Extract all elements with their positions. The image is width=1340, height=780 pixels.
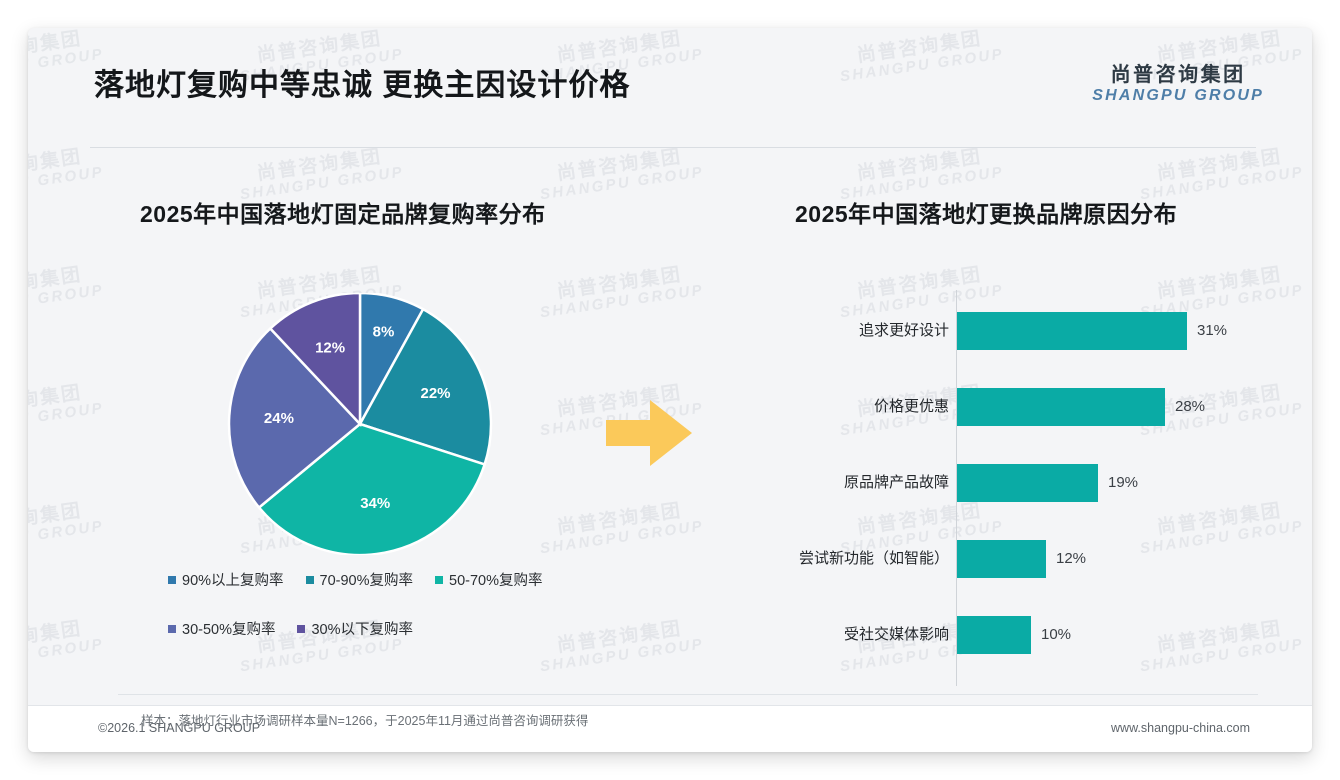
left-chart-title: 2025年中国落地灯固定品牌复购率分布 xyxy=(140,195,546,229)
bar-row: 价格更优惠28% xyxy=(796,388,1266,426)
legend-item[interactable]: 30%以下复购率 xyxy=(297,618,413,639)
bar-row: 原品牌产品故障19% xyxy=(796,464,1266,502)
legend-swatch-icon xyxy=(306,576,314,584)
slide-header: 落地灯复购中等忠诚 更换主因设计价格 尚普咨询集团 SHANGPU GROUP xyxy=(28,28,1312,118)
pie-slice-label: 8% xyxy=(373,324,395,341)
slide-card: 尚普咨询集团SHANGPU GROUP尚普咨询集团SHANGPU GROUP尚普… xyxy=(28,28,1312,752)
arrow-svg xyxy=(606,394,692,472)
legend-swatch-icon xyxy=(297,625,305,633)
logo-text-cn: 尚普咨询集团 xyxy=(1092,64,1264,87)
legend-item[interactable]: 90%以上复购率 xyxy=(168,569,284,590)
page-title: 落地灯复购中等忠诚 更换主因设计价格 xyxy=(94,60,630,104)
pie-slice-label: 12% xyxy=(315,339,345,356)
bar-row: 追求更好设计31% xyxy=(796,312,1266,350)
watermark-tile: 尚普咨询集团SHANGPU GROUP xyxy=(536,263,705,321)
bar-category-label: 追求更好设计 xyxy=(859,312,949,350)
legend-label: 70-90%复购率 xyxy=(320,569,413,590)
footnote-divider xyxy=(118,694,1258,695)
bar-category-label: 尝试新功能（如智能） xyxy=(799,540,949,578)
pie-slice-label: 22% xyxy=(421,385,451,402)
bar-fill[interactable] xyxy=(957,540,1046,578)
bar-category-label: 原品牌产品故障 xyxy=(844,464,949,502)
bar-fill[interactable] xyxy=(957,388,1165,426)
pie-slice-label: 24% xyxy=(264,410,294,427)
bar-value-label: 31% xyxy=(1197,312,1227,350)
watermark-tile: 尚普咨询集团SHANGPU GROUP xyxy=(536,145,705,203)
legend-item[interactable]: 50-70%复购率 xyxy=(435,569,542,590)
pie-slice-label: 34% xyxy=(360,495,390,512)
repurchase-pie-chart: 8%22%34%24%12% xyxy=(224,293,496,555)
bar-category-label: 受社交媒体影响 xyxy=(844,616,949,654)
logo-text-en: SHANGPU GROUP xyxy=(1092,87,1264,105)
bar-value-label: 12% xyxy=(1056,540,1086,578)
bar-value-label: 10% xyxy=(1041,616,1071,654)
right-arrow-icon xyxy=(606,394,692,477)
watermark-tile: 尚普咨询集团SHANGPU GROUP xyxy=(536,499,705,557)
pie-legend: 90%以上复购率70-90%复购率50-70%复购率30-50%复购率30%以下… xyxy=(168,569,608,667)
pie-svg: 8%22%34%24%12% xyxy=(224,293,496,555)
legend-swatch-icon xyxy=(168,576,176,584)
bar-value-label: 19% xyxy=(1108,464,1138,502)
sample-footnote: 样本：落地灯行业市场调研样本量N=1266，于2025年11月通过尚普咨询调研获… xyxy=(141,710,588,729)
legend-swatch-icon xyxy=(435,576,443,584)
legend-swatch-icon xyxy=(168,625,176,633)
watermark-tile: 尚普咨询集团SHANGPU GROUP xyxy=(28,617,105,675)
watermark-tile: 尚普咨询集团SHANGPU GROUP xyxy=(28,499,105,557)
legend-label: 50-70%复购率 xyxy=(449,569,542,590)
watermark-tile: 尚普咨询集团SHANGPU GROUP xyxy=(28,381,105,439)
legend-label: 90%以上复购率 xyxy=(182,569,284,590)
watermark-tile: 尚普咨询集团SHANGPU GROUP xyxy=(28,263,105,321)
bar-category-label: 价格更优惠 xyxy=(874,388,949,426)
screenshot-stage: 尚普咨询集团SHANGPU GROUP尚普咨询集团SHANGPU GROUP尚普… xyxy=(0,0,1340,780)
right-chart-title: 2025年中国落地灯更换品牌原因分布 xyxy=(795,195,1177,229)
watermark-tile: 尚普咨询集团SHANGPU GROUP xyxy=(28,145,105,203)
legend-label: 30%以下复购率 xyxy=(311,618,413,639)
bar-row: 受社交媒体影响10% xyxy=(796,616,1266,654)
reason-bar-chart: 追求更好设计31%价格更优惠28%原品牌产品故障19%尝试新功能（如智能）12%… xyxy=(796,290,1266,690)
legend-row: 30-50%复购率30%以下复购率 xyxy=(168,618,608,639)
legend-item[interactable]: 30-50%复购率 xyxy=(168,618,275,639)
header-divider xyxy=(90,147,1256,148)
legend-label: 30-50%复购率 xyxy=(182,618,275,639)
legend-item[interactable]: 70-90%复购率 xyxy=(306,569,413,590)
footer-website[interactable]: www.shangpu-china.com xyxy=(1111,721,1250,735)
bar-value-label: 28% xyxy=(1175,388,1205,426)
bar-row: 尝试新功能（如智能）12% xyxy=(796,540,1266,578)
bar-fill[interactable] xyxy=(957,312,1187,350)
bar-fill[interactable] xyxy=(957,616,1031,654)
brand-logo: 尚普咨询集团 SHANGPU GROUP xyxy=(1092,64,1264,105)
bar-fill[interactable] xyxy=(957,464,1098,502)
legend-row: 90%以上复购率70-90%复购率50-70%复购率 xyxy=(168,569,608,590)
